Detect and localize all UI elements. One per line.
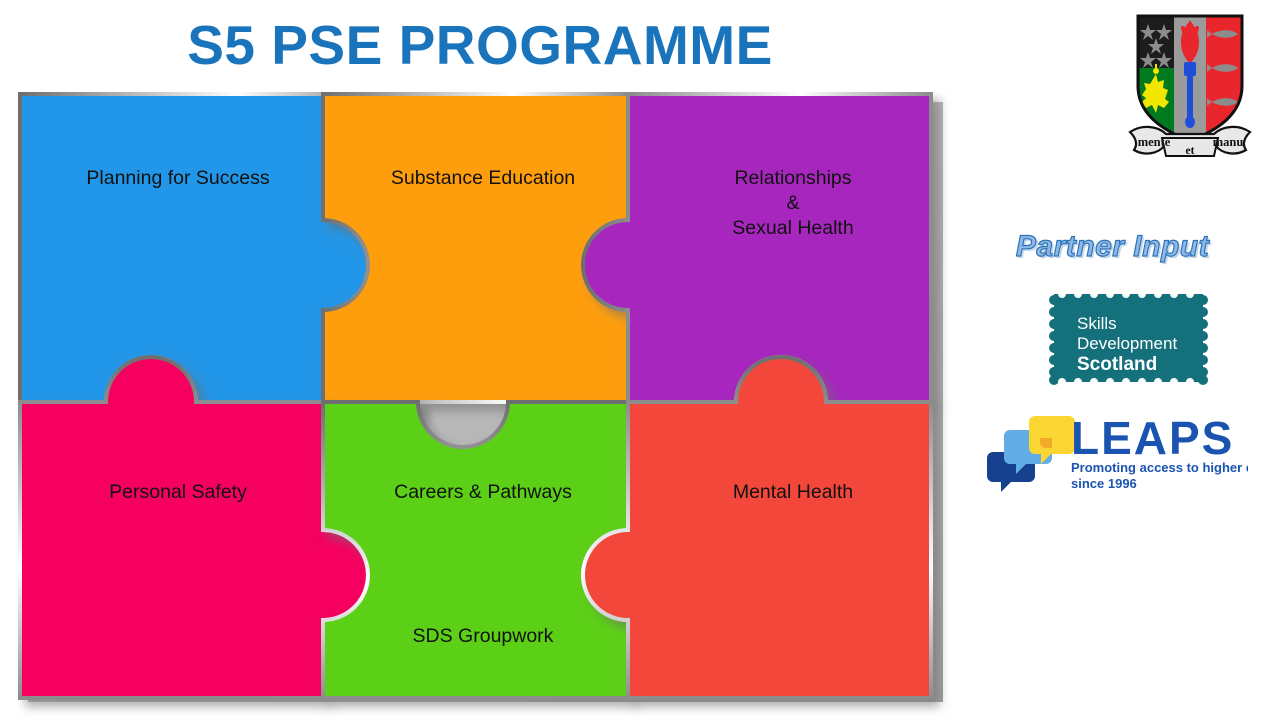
crest-motto-middle: et — [1186, 145, 1195, 157]
school-crest-icon: mente et manu — [1118, 8, 1262, 168]
leaps-bubbles-icon — [987, 416, 1075, 492]
puzzle-piece-personal-safety[interactable] — [20, 357, 368, 698]
skills-development-scotland-logo[interactable]: Skills Development Scotland — [1049, 291, 1208, 385]
crest-motto-right: manu — [1213, 135, 1244, 149]
puzzle-piece-mental-health[interactable] — [583, 357, 931, 698]
partner-input-heading: Partner Input — [960, 230, 1265, 264]
crest-motto-left: mente — [1138, 135, 1171, 149]
leaps-tagline-line-1: Promoting access to higher education — [1071, 460, 1248, 475]
puzzle-svg — [18, 92, 958, 717]
leaps-logo[interactable]: LEAPS Promoting access to higher educati… — [983, 408, 1248, 492]
sds-line-3: Scotland — [1077, 354, 1157, 375]
leaps-wordmark: LEAPS — [1071, 412, 1234, 464]
leaps-tagline-line-2: since 1996 — [1071, 476, 1137, 491]
sds-line-2: Development — [1077, 334, 1177, 353]
puzzle-piece-planning[interactable] — [20, 94, 368, 402]
puzzle-piece-careers[interactable] — [323, 402, 628, 698]
page-title: S5 PSE PROGRAMME — [0, 18, 960, 73]
puzzle-diagram: Planning for Success Substance Education… — [18, 92, 958, 717]
puzzle-piece-relationships[interactable] — [583, 94, 931, 402]
sds-line-1: Skills — [1077, 314, 1117, 333]
